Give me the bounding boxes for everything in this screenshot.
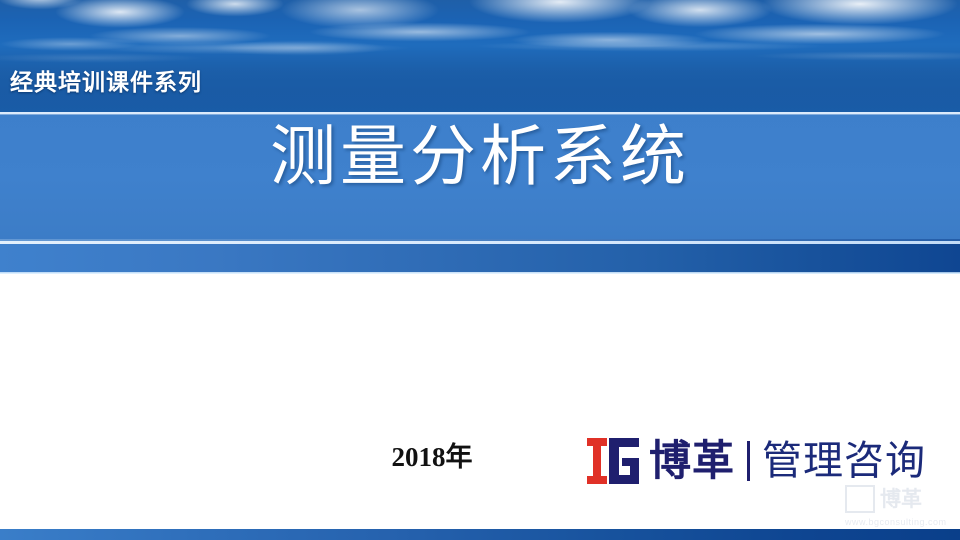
boge-monogram-icon [585, 435, 643, 487]
logo-brand-text: 博革 [649, 440, 735, 482]
footer-strip [0, 529, 960, 540]
year-label: 2018年 [352, 444, 512, 471]
slide-canvas: 经典培训课件系列 测量分析系统 2018年 博革 管理咨询 博革 www.bgc… [0, 0, 960, 540]
logo-divider [747, 441, 750, 481]
company-logo: 博革 管理咨询 [585, 430, 950, 492]
cloud-photo [0, 0, 960, 112]
page-title: 测量分析系统 [0, 118, 960, 196]
series-banner-label: 经典培训课件系列 [10, 71, 202, 94]
sky-header-image [0, 0, 960, 112]
gradient-band [0, 244, 960, 273]
logo-tagline-text: 管理咨询 [762, 441, 926, 481]
panel-top-rule-secondary [0, 114, 960, 115]
sky-gradient-overlay [0, 0, 960, 112]
